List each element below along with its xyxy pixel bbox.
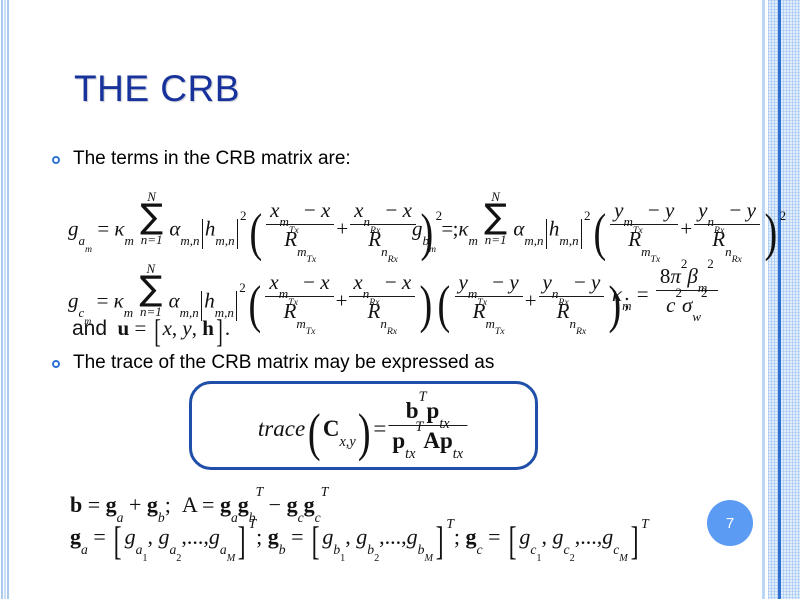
page-number-label: 7 <box>726 515 734 532</box>
g-b-m-equation: gbm = κm N ∑ n=1 αm,nhm,n2( ymTx − y RmT… <box>412 190 786 253</box>
right-band-solid-stripe <box>778 0 781 599</box>
g-a-m-equation: gam = κm N ∑ n=1 αm,nhm,n2( xmTx − x RmT… <box>68 190 458 253</box>
open-circle-bullet-icon <box>52 360 60 368</box>
trace-crb-equation: trace(Cx,y)= bTptx ptxTAptx <box>258 398 469 454</box>
u-vector-definition: and u = [x, y, h]. <box>72 316 230 343</box>
bullet-item-trace: The trace of the CRB matrix may be expre… <box>52 352 494 375</box>
right-band-thin-stripe <box>762 0 765 599</box>
bullet-terms-label: The terms in the CRB matrix are: <box>73 148 351 171</box>
trace-equation-box: trace(Cx,y)= bTptx ptxTAptx <box>189 381 538 470</box>
page-number-badge: 7 <box>707 500 753 546</box>
left-decorative-band <box>0 0 10 599</box>
bullet-trace-label: The trace of the CRB matrix may be expre… <box>73 352 494 375</box>
kappa-m-definition: κm = 8π2βm2 c2σw2 <box>612 264 720 318</box>
bullet-item-terms: The terms in the CRB matrix are: <box>52 148 351 171</box>
b-and-A-definitions: b = ga + gb; A = gagbT − gcgcT <box>70 492 328 518</box>
right-decorative-band <box>760 0 800 599</box>
slide-title: THE CRB <box>74 68 240 110</box>
g-vector-definitions: ga = [ga1, ga2,...,gaM]T; gb = [gb1, gb2… <box>70 524 649 553</box>
slide-title-text: THE CRB <box>74 68 240 109</box>
open-circle-bullet-icon <box>52 156 60 164</box>
right-band-textured-stripe <box>768 0 800 599</box>
